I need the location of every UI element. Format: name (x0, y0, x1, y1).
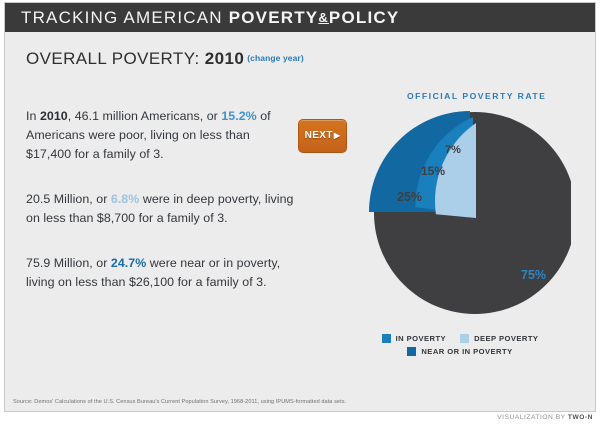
para-2-seg1: 75.9 Million, or (26, 256, 111, 270)
para-0-seg2: , 46.1 million Americans, or (68, 109, 222, 123)
page-title: TRACKING AMERICAN POVERTY&POLICY (21, 8, 399, 28)
para-1-highlight-percent: 6.8% (111, 192, 139, 206)
chart-legend: IN POVERTY DEEP POVERTY NEAR OR IN POVER… (360, 334, 560, 360)
pie-label-in-poverty: 15% (421, 164, 445, 178)
pie-label-deep-poverty: 7% (445, 144, 461, 156)
para-0-bold-year: 2010 (40, 109, 68, 123)
attribution: VISUALIZATION BY TWO-N (497, 414, 593, 421)
chart-title: OFFICIAL POVERTY RATE (407, 91, 546, 101)
header-title-light: TRACKING AMERICAN (21, 8, 229, 27)
para-2-highlight-percent: 24.7% (111, 256, 146, 270)
attribution-brand: TWO-N (568, 414, 593, 421)
legend-label-deep-poverty: DEEP POVERTY (474, 334, 538, 343)
pie-label-near-or-in-poverty: 25% (397, 190, 422, 204)
para-1-seg1: 20.5 Million, or (26, 192, 111, 206)
section-subtitle: OVERALL POVERTY: 2010(change year) (26, 49, 304, 69)
paragraph-deep-poverty: 20.5 Million, or 6.8% were in deep pover… (26, 190, 294, 228)
para-0-highlight-percent: 15.2% (221, 109, 256, 123)
next-button[interactable]: NEXT▶ (298, 119, 347, 153)
legend-item-in-poverty[interactable]: IN POVERTY (382, 334, 447, 343)
legend-row-top: IN POVERTY DEEP POVERTY (360, 334, 560, 343)
attribution-prefix: VISUALIZATION BY (497, 414, 568, 421)
subtitle-label: OVERALL POVERTY: (26, 49, 200, 68)
header-title-bold-poverty: POVERTY (229, 8, 319, 27)
play-arrow-icon: ▶ (334, 131, 341, 140)
next-button-text: NEXT (305, 130, 333, 141)
subtitle-year: 2010 (205, 49, 244, 68)
paragraph-overall-poverty: In 2010, 46.1 million Americans, or 15.2… (26, 107, 294, 164)
pie-chart: 25% 15% 7% 75% (341, 103, 571, 323)
header-title-ampersand: & (318, 10, 329, 25)
para-0-seg1: In (26, 109, 40, 123)
legend-item-deep-poverty[interactable]: DEEP POVERTY (460, 334, 538, 343)
change-year-link[interactable]: (change year) (247, 53, 304, 63)
pie-label-not-in-poverty: 75% (521, 268, 546, 282)
infographic-frame: TRACKING AMERICAN POVERTY&POLICY OVERALL… (0, 0, 600, 429)
legend-swatch-in-poverty (382, 334, 391, 343)
pie-chart-svg: 25% 15% 7% 75% (341, 103, 571, 323)
header-title-bold-policy: POLICY (329, 8, 400, 27)
copy-block: In 2010, 46.1 million Americans, or 15.2… (26, 107, 294, 292)
legend-label-in-poverty: IN POVERTY (396, 334, 447, 343)
legend-label-near-or-in-poverty: NEAR OR IN POVERTY (421, 347, 512, 356)
infographic-card: TRACKING AMERICAN POVERTY&POLICY OVERALL… (4, 2, 596, 412)
source-note: Source: Demos' Calculations of the U.S. … (13, 399, 346, 405)
paragraph-near-or-in-poverty: 75.9 Million, or 24.7% were near or in p… (26, 254, 294, 292)
legend-item-near-or-in-poverty[interactable]: NEAR OR IN POVERTY (407, 347, 512, 356)
legend-swatch-near-or-in-poverty (407, 347, 416, 356)
header-bar: TRACKING AMERICAN POVERTY&POLICY (5, 3, 595, 32)
legend-swatch-deep-poverty (460, 334, 469, 343)
legend-row-bottom: NEAR OR IN POVERTY (360, 347, 560, 356)
next-button-label: NEXT▶ (299, 130, 346, 141)
